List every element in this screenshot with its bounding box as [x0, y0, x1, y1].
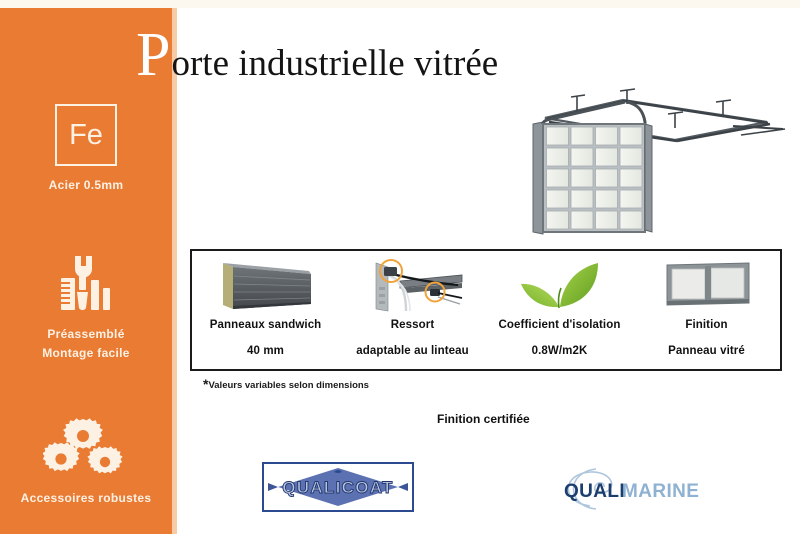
glazed-panel-icon [657, 256, 757, 314]
sidebar-label-acier: Acier 0.5mm [0, 176, 172, 195]
feature-value: 0.8W/m2K [532, 345, 588, 357]
footnote-text: Valeurs variables selon dimensions [208, 380, 369, 391]
qualicoat-logo: QUALICOAT [262, 462, 414, 512]
feature-ressort: Ressort adaptable au linteau [339, 251, 486, 369]
page-title: P orte industrielle vitrée [136, 24, 498, 86]
feature-finition: Finition Panneau vitré [633, 251, 780, 369]
svg-text:MARINE: MARINE [622, 481, 699, 502]
sidebar-item-accessoires: Accessoires robustes [0, 416, 172, 508]
wrench-tools-icon [0, 252, 172, 316]
svg-text:QUALICOAT: QUALICOAT [282, 478, 393, 497]
feature-value: adaptable au linteau [356, 345, 469, 357]
page-title-initial: P [136, 24, 170, 86]
sidebar-label-montage: Montage facile [0, 344, 172, 363]
gears-icon [0, 416, 172, 480]
feature-title: Ressort [391, 318, 435, 333]
feature-title: Coefficient d'isolation [499, 318, 621, 333]
spring-mechanism-icon [360, 256, 465, 314]
feature-value: 40 mm [247, 345, 284, 357]
top-edge-strip [0, 0, 800, 8]
features-box: Panneaux sandwich 40 mm [190, 249, 782, 371]
glazed-sectional-door-image [505, 82, 790, 237]
feature-title: Panneaux sandwich [210, 318, 322, 333]
qualimarine-logo: QUALI MARINE [546, 466, 716, 512]
fe-symbol-label: Fe [69, 121, 103, 150]
certification-title: Finition certifiée [437, 412, 530, 426]
sandwich-panel-icon [213, 256, 318, 314]
sidebar-label-preassemble: Préassemblé [0, 325, 172, 344]
feature-title: Finition [685, 318, 727, 333]
sidebar-label-accessoires: Accessoires robustes [0, 489, 172, 508]
footnote: *Valeurs variables selon dimensions [203, 380, 369, 391]
poster-page: Fe Acier 0.5mm [0, 0, 800, 534]
sidebar-item-acier: Fe Acier 0.5mm [0, 104, 172, 195]
leaf-insulation-icon [512, 256, 608, 314]
fe-element-box-icon: Fe [55, 104, 117, 166]
page-title-rest: orte industrielle vitrée [171, 41, 498, 87]
svg-text:QUALI: QUALI [564, 481, 625, 502]
feature-panneaux-sandwich: Panneaux sandwich 40 mm [192, 251, 339, 369]
sidebar-item-preassemble: Préassemblé Montage facile [0, 252, 172, 363]
feature-coefficient-isolation: Coefficient d'isolation 0.8W/m2K [486, 251, 633, 369]
feature-value: Panneau vitré [668, 345, 745, 357]
